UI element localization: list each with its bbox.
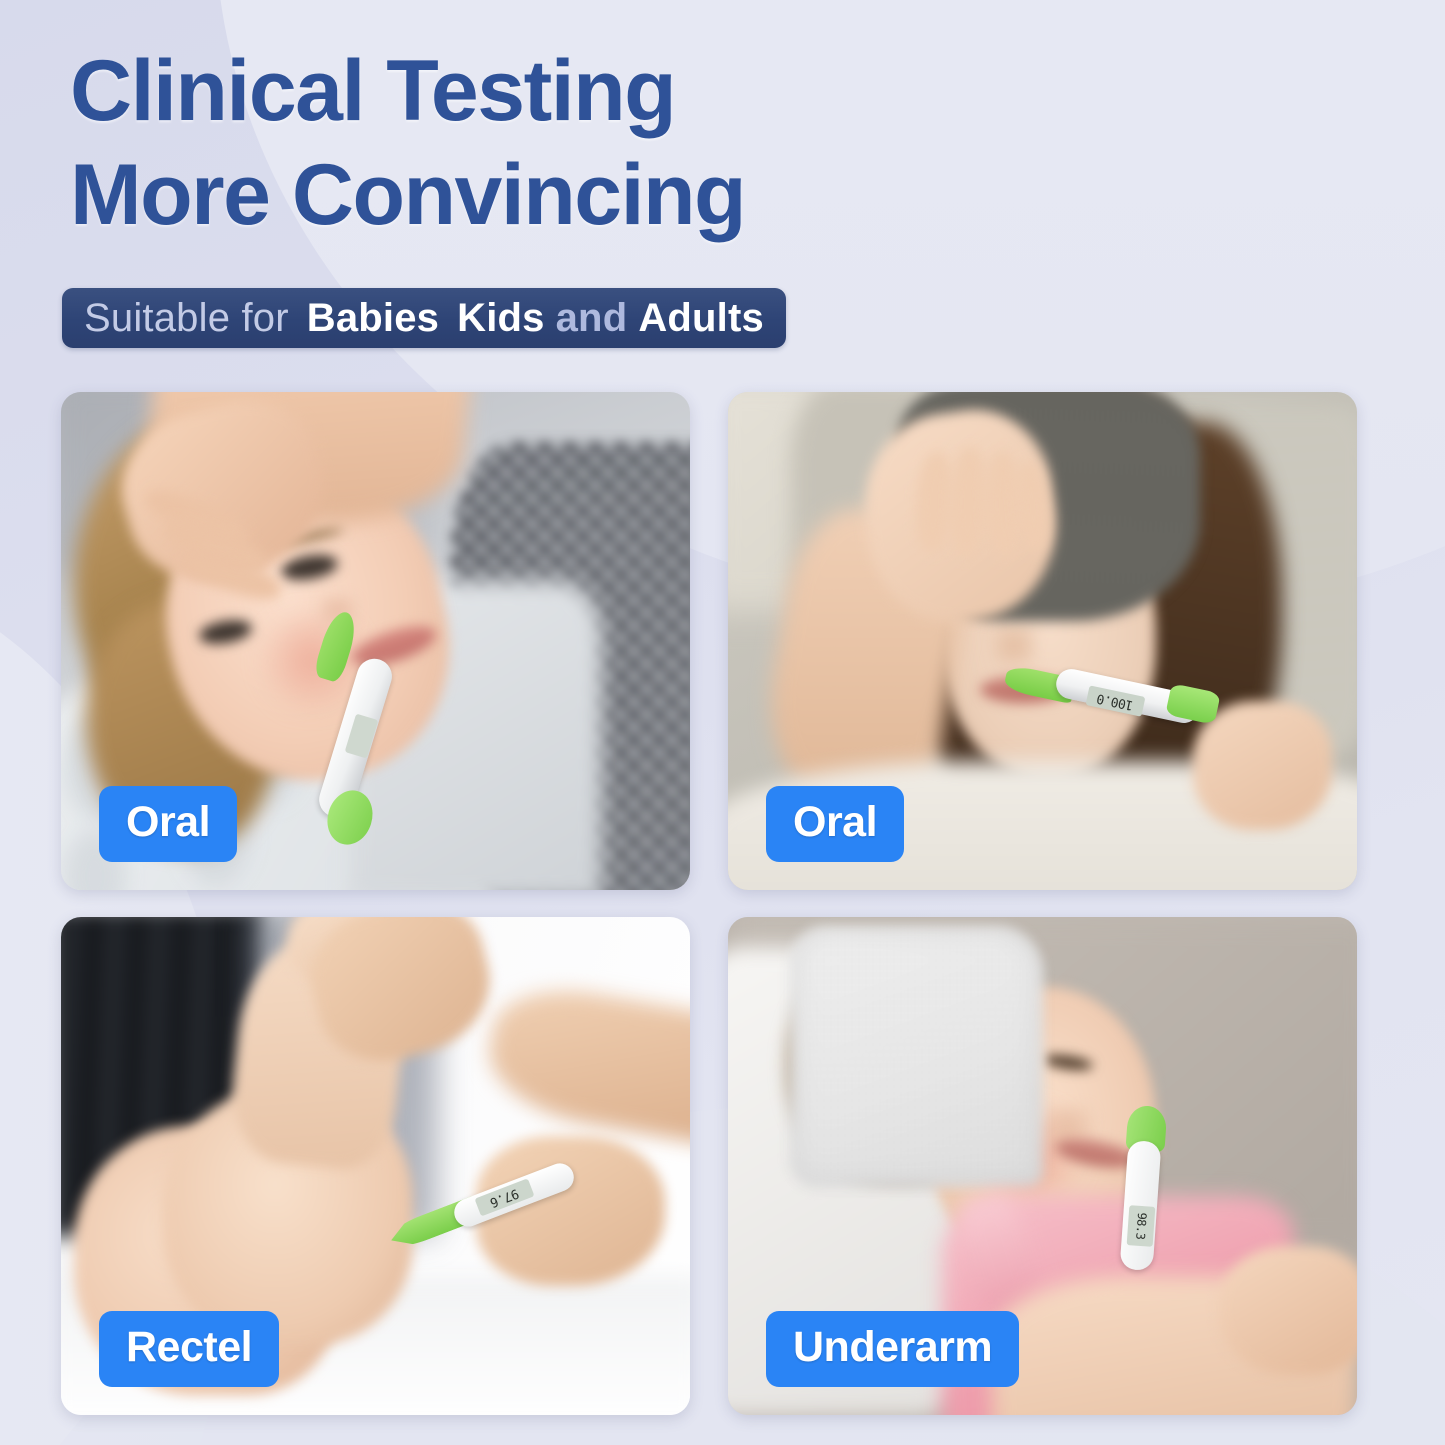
headline-line-2: More Convincing <box>70 152 1070 240</box>
subtitle-conjunction: and <box>556 298 628 338</box>
photo-tile-underarm: 98.3 Underarm <box>728 917 1357 1415</box>
subtitle-word-babies: Babies <box>307 298 439 338</box>
photo-tile-rectal-baby: 97.6 Rectel <box>61 917 690 1415</box>
badge-rectal: Rectel <box>99 1311 279 1387</box>
subtitle-bar: Suitable for Babies Kids and Adults <box>62 288 786 348</box>
child-hand <box>1219 1246 1357 1375</box>
thermometer-reading: 98.3 <box>1120 1211 1162 1240</box>
headline: Clinical Testing More Convincing <box>70 48 1070 239</box>
usage-photo-grid: Oral <box>61 392 1384 1415</box>
subtitle-word-kids: Kids <box>457 298 544 338</box>
product-feature-banner: Clinical Testing More Convincing Suitabl… <box>0 0 1445 1445</box>
headline-line-1: Clinical Testing <box>70 43 675 139</box>
photo-tile-oral-adult: 100.0 Oral <box>728 392 1357 890</box>
badge-underarm: Underarm <box>766 1311 1019 1387</box>
subtitle-word-adults: Adults <box>638 298 764 338</box>
forehead-towel-texture <box>791 927 1043 1186</box>
adult-forearm <box>479 977 690 1146</box>
photo-tile-oral-child: Oral <box>61 392 690 890</box>
woman-nose <box>992 626 1036 666</box>
woman-hand-right <box>1193 701 1331 830</box>
badge-oral-child: Oral <box>99 786 237 862</box>
badge-oral-adult: Oral <box>766 786 904 862</box>
subtitle-prefix: Suitable for <box>84 298 289 338</box>
